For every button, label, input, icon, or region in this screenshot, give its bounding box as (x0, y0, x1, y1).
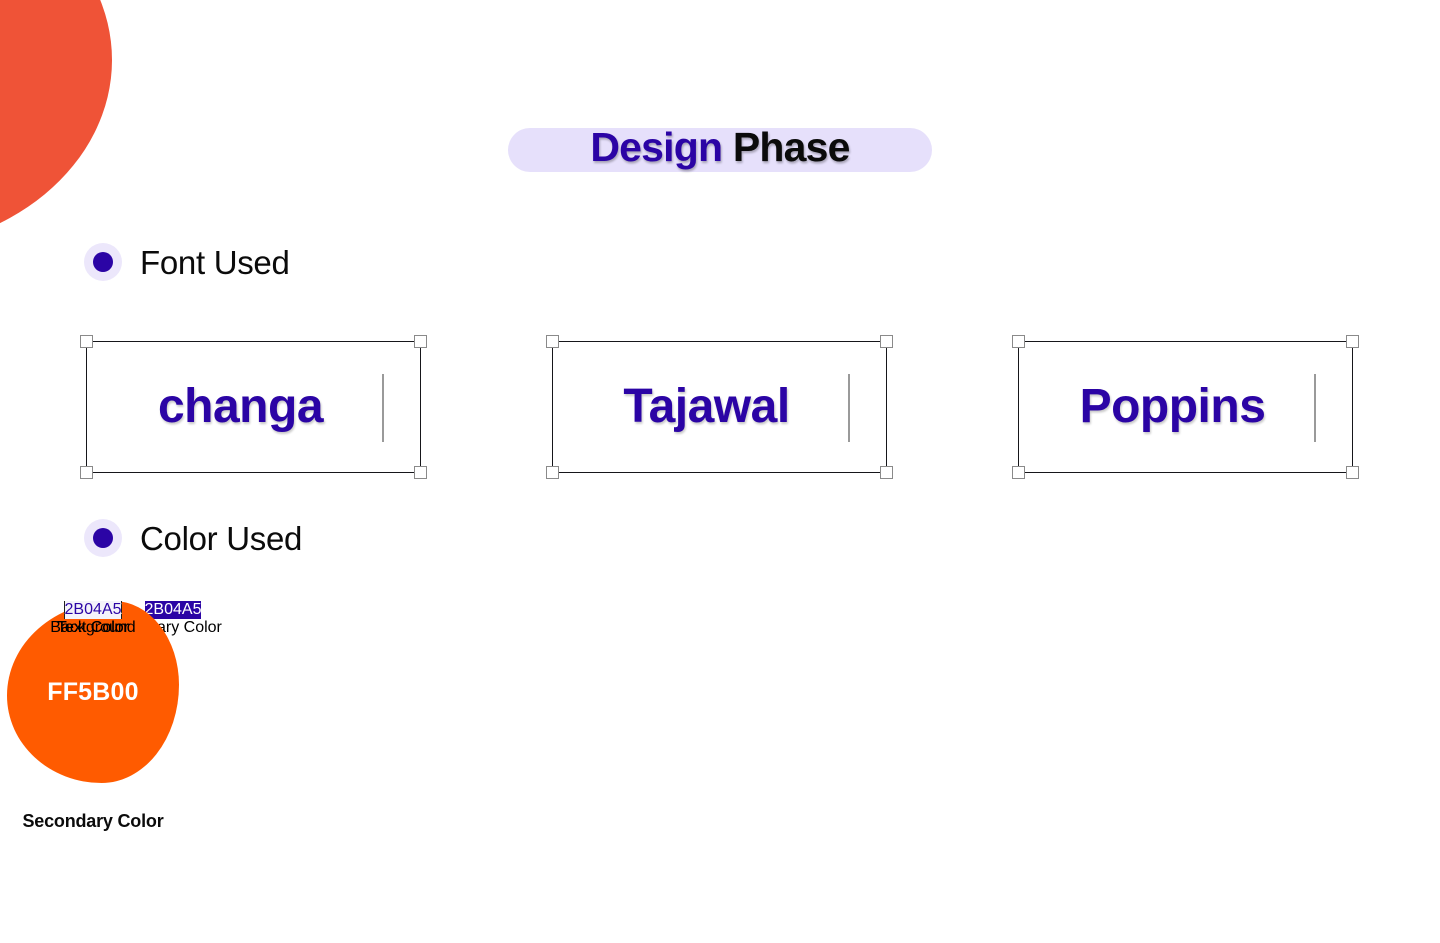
title-accent-word: Design (590, 124, 722, 170)
text-caret-icon (382, 374, 384, 442)
resize-handle-top-left[interactable] (1012, 335, 1025, 348)
font-specimen-box[interactable]: Poppins (1018, 341, 1353, 473)
watermark: نفذلي nafezly.com (0, 0, 1440, 38)
resize-handle-top-right[interactable] (1346, 335, 1359, 348)
color-swatch-caption: Secondary Color (22, 811, 163, 832)
color-hex-label: FF5B00 (47, 680, 139, 705)
resize-handle-top-left[interactable] (546, 335, 559, 348)
resize-handle-bottom-left[interactable] (546, 466, 559, 479)
resize-handle-bottom-left[interactable] (1012, 466, 1025, 479)
font-name-label: Poppins (1080, 383, 1266, 431)
bullet-dot-icon (93, 252, 113, 272)
watermark-latin: nafezly.com (0, 20, 1440, 38)
font-specimen-row: changa Tajawal Poppins (0, 341, 1440, 473)
watermark-arabic: نفذلي (0, 0, 1440, 20)
text-caret-icon (848, 374, 850, 442)
section-label-fonts: Font Used (140, 246, 290, 279)
color-swatch-blob[interactable]: 2B04A5 (65, 601, 122, 619)
section-label-colors: Color Used (140, 522, 302, 555)
color-swatch-caption: Background (50, 619, 135, 637)
resize-handle-bottom-right[interactable] (414, 466, 427, 479)
resize-handle-bottom-right[interactable] (880, 466, 893, 479)
color-swatch-item[interactable]: 2B04A5 Background (0, 601, 186, 637)
text-caret-icon (1314, 374, 1316, 442)
design-phase-canvas: Design Phase Font Used changa Tajawal Po… (0, 0, 1440, 943)
title-text: Design Phase (590, 127, 849, 168)
bullet-icon (84, 519, 122, 557)
page-title: Design Phase (508, 128, 932, 172)
section-header-colors: Color Used (84, 519, 302, 557)
font-specimen-box[interactable]: changa (86, 341, 421, 473)
font-specimen-box[interactable]: Tajawal (552, 341, 887, 473)
title-rest-word: Phase (722, 124, 849, 170)
resize-handle-top-left[interactable] (80, 335, 93, 348)
resize-handle-bottom-right[interactable] (1346, 466, 1359, 479)
resize-handle-bottom-left[interactable] (80, 466, 93, 479)
font-name-label: changa (158, 383, 323, 431)
font-name-label: Tajawal (623, 383, 789, 431)
resize-handle-top-right[interactable] (414, 335, 427, 348)
color-hex-label: 2B04A5 (65, 601, 122, 618)
color-swatch-row: 2B04A5 Primary Color FF5B00 Secondary Co… (0, 601, 1440, 841)
section-header-fonts: Font Used (84, 243, 290, 281)
bullet-dot-icon (93, 528, 113, 548)
resize-handle-top-right[interactable] (880, 335, 893, 348)
bullet-icon (84, 243, 122, 281)
